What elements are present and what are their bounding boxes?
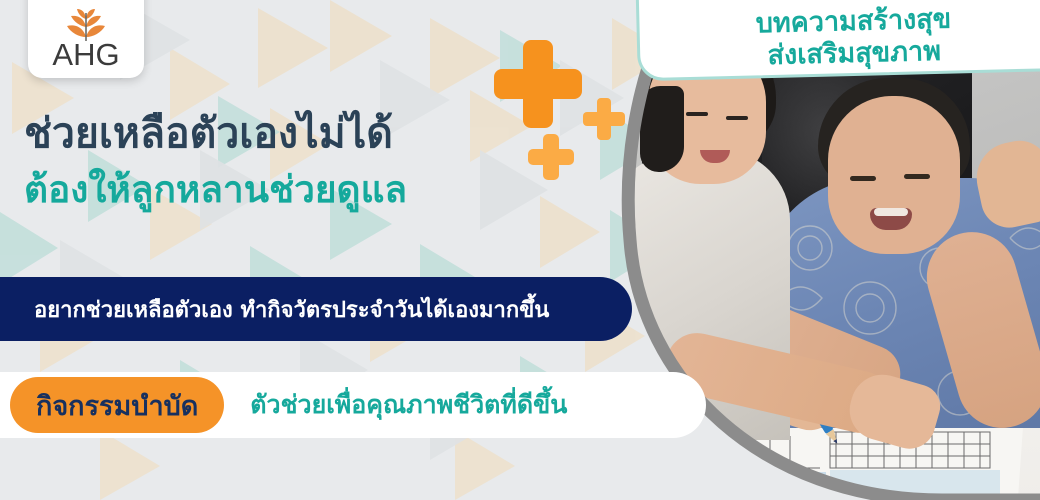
therapy-pill-button[interactable]: กิจกรรมบำบัด — [10, 377, 224, 433]
brand-logo-card[interactable]: AHG — [28, 0, 144, 78]
photo-elderly-eye-right — [904, 174, 930, 179]
photo-elderly-teeth — [874, 208, 908, 216]
medical-cross-icon-large — [494, 40, 582, 128]
article-category-tag: บทความสร้างสุข ส่งเสริมสุขภาพ — [634, 0, 1040, 81]
headline-line-2: ต้องให้ลูกหลานช่วยดูแล — [24, 166, 407, 215]
bottom-tagline: ตัวช่วยเพื่อคุณภาพชีวิตที่ดีขึ้น — [250, 385, 567, 425]
brand-logo-text: AHG — [52, 39, 119, 70]
subheadline-text: อยากช่วยเหลือตัวเอง ทำกิจวัตรประจำวันได้… — [0, 292, 549, 327]
headline-block: ช่วยเหลือตัวเองไม่ได้ ต้องให้ลูกหลานช่วย… — [24, 108, 407, 214]
article-category-line-1: บทความสร้างสุข — [755, 4, 951, 40]
bottom-band: กิจกรรมบำบัด ตัวช่วยเพื่อคุณภาพชีวิตที่ด… — [0, 372, 706, 438]
promo-banner: บทความสร้างสุข ส่งเสริมสุขภาพ AHG ช่วยเห… — [0, 0, 1040, 500]
photo-caregiver-eye-right — [726, 116, 748, 120]
subheadline-bar: อยากช่วยเหลือตัวเอง ทำกิจวัตรประจำวันได้… — [0, 277, 632, 341]
leaf-sprout-icon — [57, 7, 115, 41]
photo-elderly-eye-left — [850, 176, 876, 181]
medical-cross-icon-small — [528, 134, 574, 180]
photo-elderly-face — [828, 96, 960, 254]
article-category-line-2: ส่งเสริมสุขภาพ — [767, 36, 941, 72]
medical-cross-icon-medium — [583, 98, 625, 140]
therapy-pill-label: กิจกรรมบำบัด — [36, 384, 198, 427]
headline-line-1: ช่วยเหลือตัวเองไม่ได้ — [24, 108, 407, 160]
photo-caregiver-hair-side — [640, 86, 684, 172]
photo-caregiver-eye-left — [686, 112, 708, 116]
